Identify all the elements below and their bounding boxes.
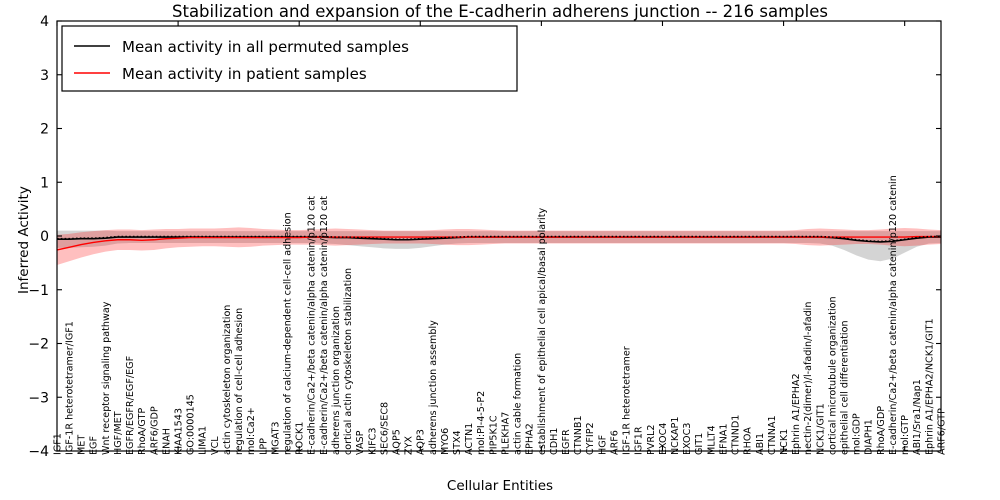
- plot-canvas: −4−3−2−101234IGF1IGF-1R heterotetramer/I…: [0, 0, 1000, 500]
- x-tick-label: HGF: [597, 435, 608, 455]
- x-tick-label: AQP3: [416, 429, 427, 455]
- x-tick-label: NCK1/GIT1: [815, 403, 826, 455]
- x-tick-label: actin cable formation: [513, 353, 524, 455]
- x-tick-label: CYFIP2: [585, 422, 596, 455]
- x-tick-label: CTNNB1: [573, 415, 584, 455]
- x-tick-label: EGFR/EGFR/EGF/EGF: [125, 356, 136, 455]
- x-tick-label: MET: [77, 435, 88, 455]
- x-tick-label: adherens junction organization: [331, 306, 342, 455]
- x-tick-label: ARF6: [609, 430, 620, 455]
- x-tick-label: PIP5K1C: [488, 415, 499, 455]
- x-tick-label: establishment of epithelial cell apical/…: [537, 208, 548, 455]
- x-tick-label: HGF/MET: [113, 411, 124, 455]
- x-tick-label: ROCK1: [295, 422, 306, 455]
- x-tick-label: CTNNA1: [767, 415, 778, 455]
- x-tick-label: regulation of calcium-dependent cell-cel…: [282, 212, 293, 455]
- x-tick-label: SEC6/SEC8: [379, 402, 390, 455]
- x-tick-label: ARF6/GTP: [936, 408, 947, 455]
- x-tick-label: E-cadherin/Ca2+/beta catenin/alpha caten…: [307, 196, 318, 455]
- y-tick-label: −2: [28, 337, 49, 353]
- x-tick-label: actin cytoskeleton organization: [222, 305, 233, 455]
- x-tick-label: PLEKHA7: [500, 412, 511, 455]
- y-tick-label: 0: [40, 229, 49, 245]
- x-tick-label: EXOC4: [658, 423, 669, 455]
- x-tick-label: VCL: [210, 436, 221, 455]
- x-tick-label: ENAH: [161, 428, 172, 455]
- x-tick-label: cortical actin cytoskeleton stabilizatio…: [343, 268, 354, 455]
- x-tick-label: Wnt receptor signaling pathway: [101, 301, 112, 455]
- x-tick-label: MLLT4: [706, 425, 717, 455]
- x-tick-label: mol:GDP: [852, 413, 863, 455]
- y-tick-label: 2: [40, 122, 49, 138]
- x-tick-label: mol:GTP: [900, 415, 911, 455]
- y-tick-label: 1: [40, 175, 49, 191]
- x-tick-label: KIFC3: [367, 428, 378, 455]
- x-tick-label: PVRL2: [646, 425, 657, 455]
- x-tick-label: MGAT3: [270, 422, 281, 456]
- x-tick-label: nectin-2(dimer)/l-afadin/l-afadin: [803, 302, 814, 455]
- figure: Stabilization and expansion of the E-cad…: [0, 0, 1000, 500]
- x-tick-label: EGFR: [561, 429, 572, 455]
- x-tick-label: mol:PI-4-5-P2: [476, 391, 487, 455]
- x-tick-label: E-cadherin/Ca2+/beta catenin/alpha caten…: [888, 175, 899, 455]
- x-tick-label: IGF1R: [634, 426, 645, 455]
- x-tick-label: E-cadherin/Ca2+/beta catenin/alpha caten…: [319, 196, 330, 455]
- y-tick-label: −4: [28, 444, 49, 460]
- x-tick-label: AQP5: [391, 429, 402, 455]
- x-tick-label: RhoA/GDP: [876, 406, 887, 455]
- x-tick-label: cortical microtubule organization: [827, 296, 838, 455]
- x-tick-label: GO:0000145: [186, 394, 197, 455]
- y-tick-label: 3: [40, 68, 49, 84]
- x-tick-label: DIAPH1: [864, 419, 875, 455]
- x-tick-label: mol:Ca2+: [246, 407, 257, 455]
- x-tick-label: IGF-1R heterotetramer/IGF1: [65, 321, 76, 455]
- x-tick-label: RhoA/GTP: [137, 408, 148, 455]
- y-tick-label: −1: [28, 283, 49, 299]
- x-tick-label: STX4: [452, 430, 463, 455]
- x-tick-label: EFNA1: [718, 424, 729, 455]
- x-tick-label: GIT1: [694, 433, 705, 455]
- x-tick-label: ABI1: [755, 433, 766, 455]
- x-tick-label: IGF-1R heterotetramer: [622, 346, 633, 455]
- x-tick-label: CTNND1: [731, 415, 742, 455]
- confidence-band-1: [57, 227, 941, 265]
- x-tick-label: RHOA: [743, 427, 754, 455]
- x-tick-label: epithelial cell differentiation: [840, 320, 851, 455]
- x-tick-label: IGF1: [52, 433, 63, 455]
- x-tick-label: CDH1: [549, 428, 560, 455]
- legend-label-0: Mean activity in all permuted samples: [122, 38, 409, 56]
- x-tick-label: Ephrin A1/EPHA2: [791, 373, 802, 455]
- x-tick-label: ACTN1: [464, 423, 475, 455]
- x-tick-label: EXOC3: [682, 423, 693, 455]
- x-tick-label: adherens junction assembly: [428, 320, 439, 455]
- x-tick-label: ZYX: [404, 436, 415, 455]
- y-tick-label: 4: [40, 14, 49, 30]
- x-tick-label: KIAA1543: [174, 408, 185, 455]
- x-tick-label: LIMA1: [198, 426, 209, 455]
- y-tick-label: −3: [28, 390, 49, 406]
- x-tick-label: NCK1: [779, 429, 790, 455]
- x-tick-label: NCKAP1: [670, 417, 681, 455]
- x-tick-label: ARF6/GDP: [149, 406, 160, 455]
- x-tick-label: EPHA2: [525, 423, 536, 455]
- x-tick-label: EGF: [89, 436, 100, 455]
- x-tick-label: regulation of cell-cell adhesion: [234, 308, 245, 455]
- x-tick-label: MYO6: [440, 428, 451, 455]
- x-tick-label: Ephrin A1/EPHA2/NCK1/GIT1: [924, 318, 935, 455]
- x-tick-label: VASP: [355, 430, 366, 455]
- x-tick-label: ABI1/Sra1/Nap1: [912, 379, 923, 455]
- x-tick-label: LPP: [258, 438, 269, 455]
- legend-label-1: Mean activity in patient samples: [122, 65, 367, 83]
